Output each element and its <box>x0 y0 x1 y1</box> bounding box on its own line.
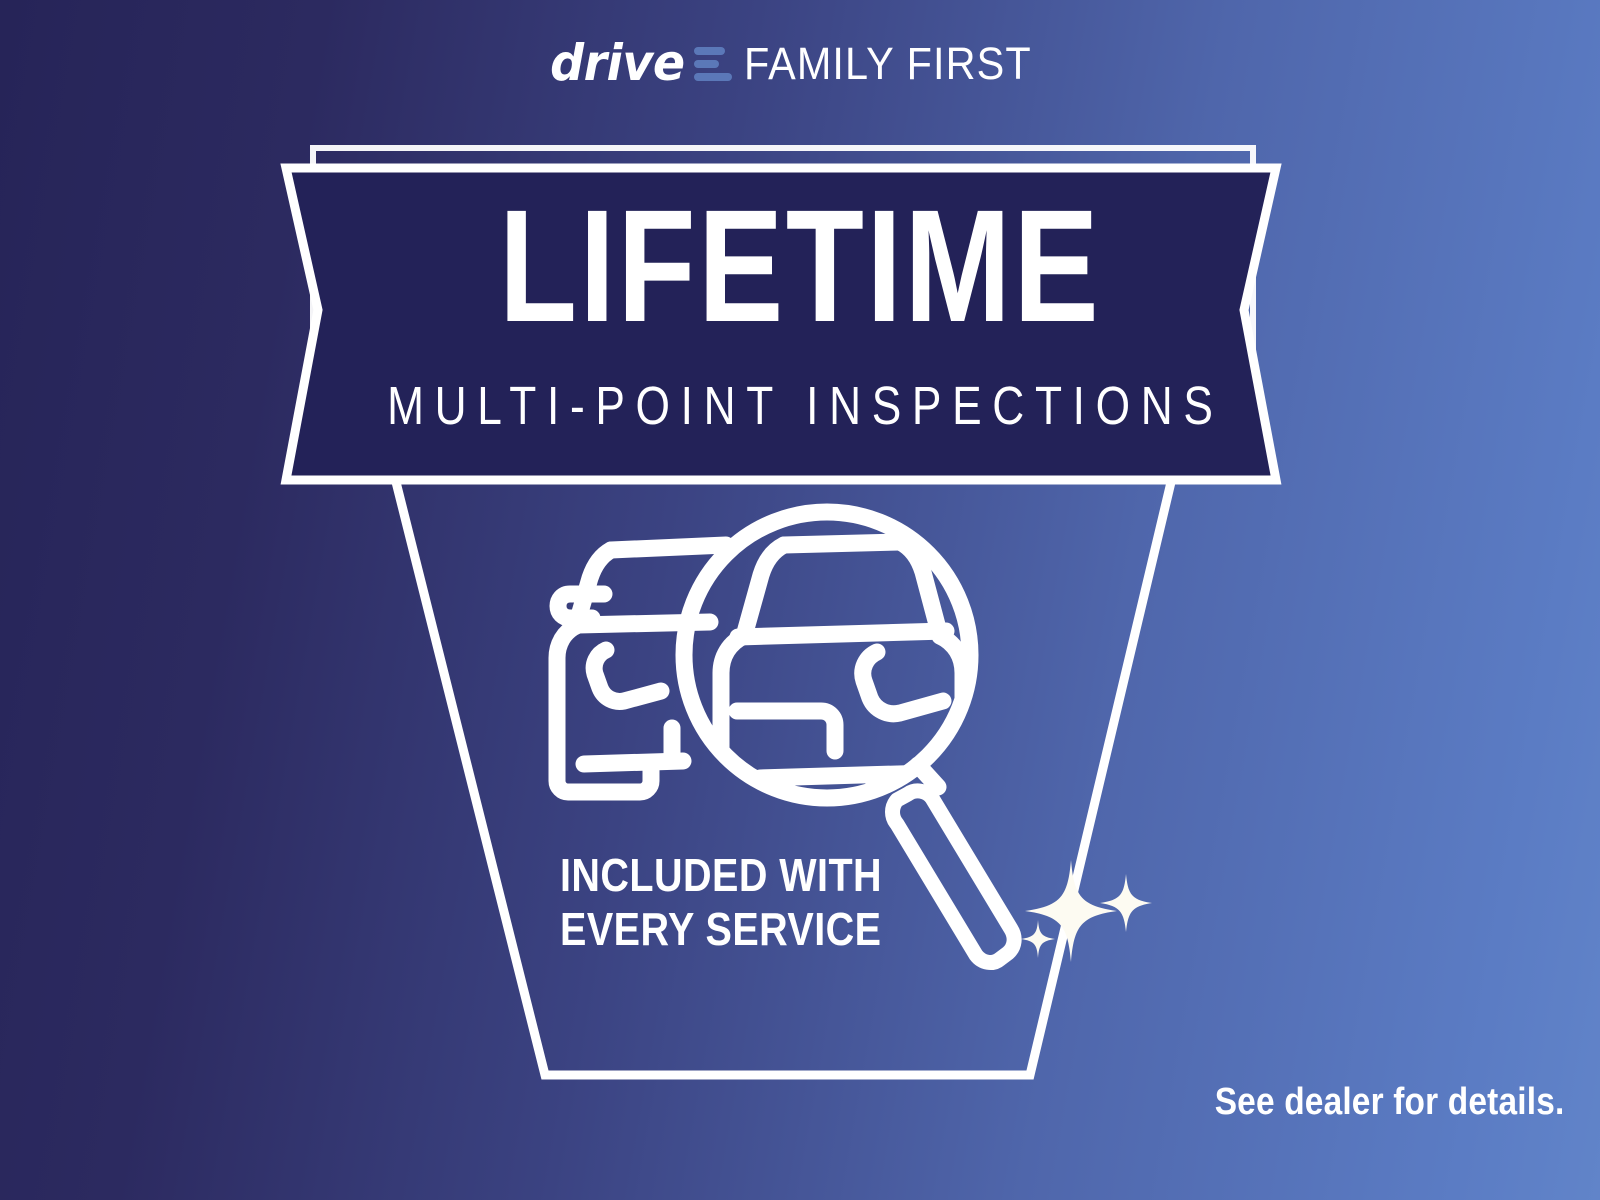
banner-title: LIFETIME <box>160 186 1440 346</box>
three-bars-icon <box>694 42 732 86</box>
magnifying-glass-connector <box>918 765 938 787</box>
sparkle-icon-large <box>1025 860 1117 962</box>
disclaimer-text: See dealer for details. <box>1214 1082 1564 1122</box>
sparkle-icon-small <box>1021 920 1055 958</box>
banner-subtitle: MULTI-POINT INSPECTIONS <box>144 378 1456 434</box>
sparkle-group <box>1021 860 1152 962</box>
brand-logo: drive FAMILY FIRST <box>0 28 1600 98</box>
included-line-2: EVERY SERVICE <box>560 902 882 956</box>
included-line-1: INCLUDED WITH <box>560 848 882 902</box>
brand-tagline: FAMILY FIRST <box>744 41 1032 86</box>
brand-drive-wordmark: drive <box>550 38 685 88</box>
crest-trapezoid-outline <box>395 478 1172 1075</box>
magnifying-glass-lens <box>684 512 970 798</box>
sparkle-icon-medium <box>1100 874 1152 932</box>
included-text: INCLUDED WITH EVERY SERVICE <box>560 848 882 956</box>
promo-graphic: drive FAMILY FIRST <box>0 0 1600 1200</box>
car-front-magnified-icon <box>721 542 1054 820</box>
car-front-icon <box>557 545 726 792</box>
magnifying-glass-handle <box>893 791 1015 963</box>
